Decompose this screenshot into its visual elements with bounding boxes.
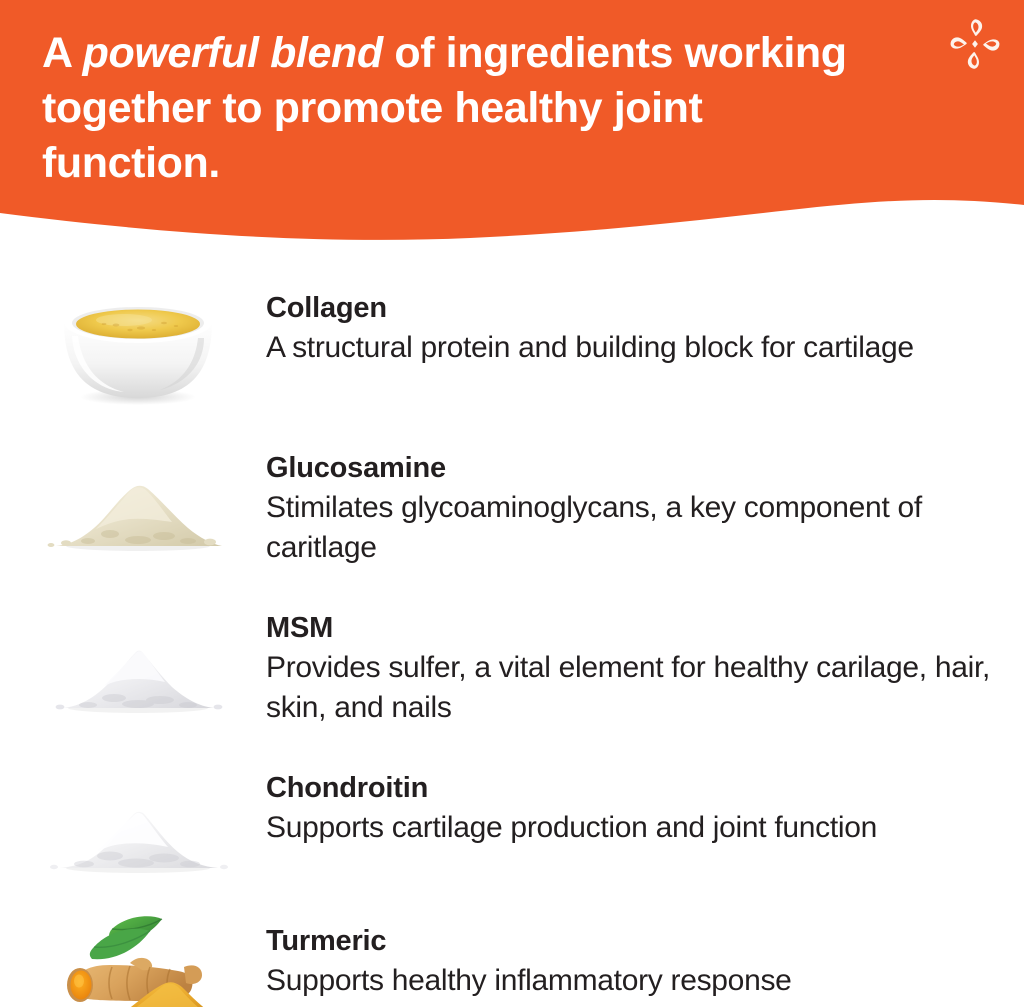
msm-powder-image (38, 608, 238, 738)
chondroitin-powder-image (38, 768, 238, 898)
ingredient-name: Glucosamine (266, 450, 996, 486)
ingredient-text-collagen: Collagen A structural protein and buildi… (266, 290, 996, 368)
ingredient-item-collagen: Collagen A structural protein and buildi… (0, 274, 1024, 434)
headline-emphasis: powerful blend (83, 29, 383, 77)
ingredient-text-msm: MSM Provides sulfer, a vital element for… (266, 610, 996, 728)
ingredient-description: Supports cartilage production and joint … (266, 808, 996, 848)
ingredient-item-glucosamine: Glucosamine Stimilates glycoaminoglycans… (0, 434, 1024, 594)
infographic-page: A powerful blend of ingredients working … (0, 0, 1024, 1007)
ingredient-text-glucosamine: Glucosamine Stimilates glycoaminoglycans… (266, 450, 996, 568)
turmeric-root-image (38, 907, 238, 1007)
turmeric-root-svg (38, 907, 238, 1007)
glucosamine-powder-svg (38, 446, 238, 576)
ingredient-description: Supports healthy inflammatory response (266, 961, 996, 1001)
ingredient-name: MSM (266, 610, 996, 646)
ingredient-description: Stimilates glycoaminoglycans, a key comp… (266, 488, 996, 568)
ingredient-description: A structural protein and building block … (266, 328, 996, 368)
four-petal-knot-logo-icon (948, 16, 1002, 72)
ingredient-item-msm: MSM Provides sulfer, a vital element for… (0, 594, 1024, 754)
ingredient-name: Chondroitin (266, 770, 996, 806)
ingredient-text-chondroitin: Chondroitin Supports cartilage productio… (266, 770, 996, 848)
collagen-bowl-image (38, 284, 238, 414)
page-title: A powerful blend of ingredients working … (42, 26, 862, 191)
ingredient-name: Collagen (266, 290, 996, 326)
chondroitin-powder-svg (38, 768, 238, 898)
collagen-bowl-svg (38, 284, 238, 414)
ingredient-item-turmeric: Turmeric Supports healthy inflammatory r… (0, 907, 1024, 1007)
msm-powder-svg (38, 608, 238, 738)
header-content: A powerful blend of ingredients working … (0, 0, 1024, 250)
header-banner: A powerful blend of ingredients working … (0, 0, 1024, 250)
ingredient-text-turmeric: Turmeric Supports healthy inflammatory r… (266, 923, 996, 1001)
ingredient-description: Provides sulfer, a vital element for hea… (266, 648, 996, 728)
glucosamine-powder-image (38, 446, 238, 576)
headline-part-1: A (42, 29, 83, 77)
ingredient-name: Turmeric (266, 923, 996, 959)
logo-svg (948, 16, 1002, 72)
ingredient-item-chondroitin: Chondroitin Supports cartilage productio… (0, 754, 1024, 914)
ingredient-list: Collagen A structural protein and buildi… (0, 252, 1024, 1007)
